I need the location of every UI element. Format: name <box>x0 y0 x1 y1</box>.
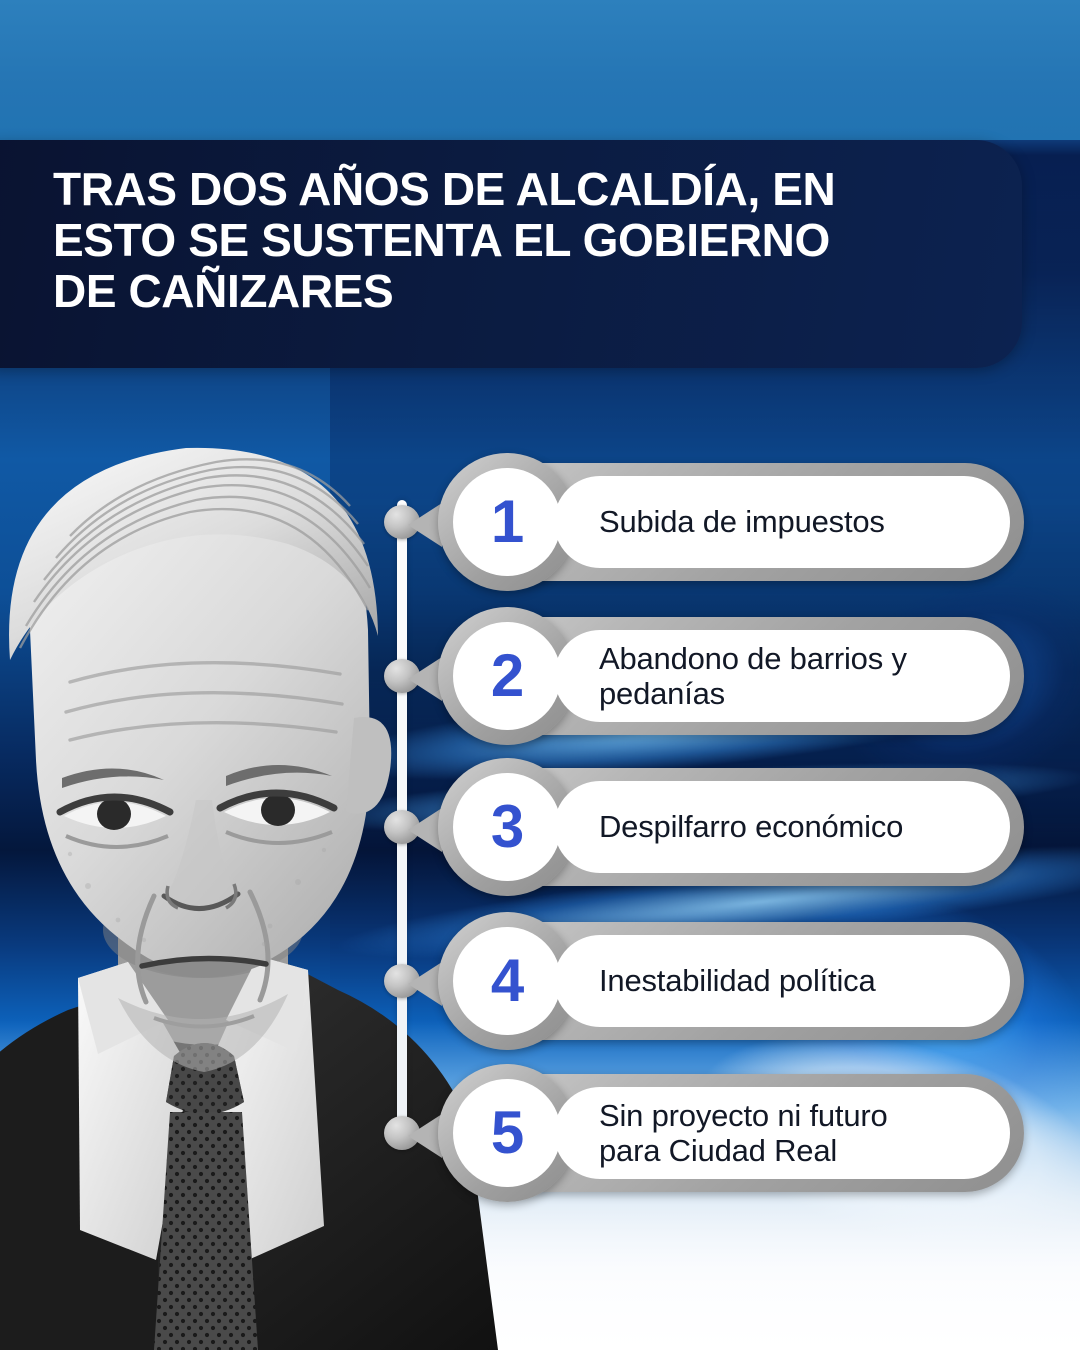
list-item-label: Subida de impuestos <box>554 504 909 539</box>
list-item-number: 2 <box>491 646 523 706</box>
list-item-label: Inestabilidad política <box>554 963 900 998</box>
item-pointer-icon <box>408 503 442 547</box>
list-item[interactable]: Subida de impuestos 1 <box>448 463 1024 581</box>
item-number-circle: 1 <box>453 468 561 576</box>
item-number-circle: 3 <box>453 773 561 881</box>
item-number-circle: 5 <box>453 1079 561 1187</box>
list-item-label: Abandono de barrios y pedanías <box>554 641 931 711</box>
item-number-circle: 2 <box>453 622 561 730</box>
list-item[interactable]: Abandono de barrios y pedanías 2 <box>448 617 1024 735</box>
list-item-number: 3 <box>491 797 523 857</box>
list-item-number: 4 <box>491 951 523 1011</box>
item-text-pill: Sin proyecto ni futuro para Ciudad Real <box>554 1087 1010 1179</box>
list-item[interactable]: Inestabilidad política 4 <box>448 922 1024 1040</box>
item-text-pill: Despilfarro económico <box>554 781 1010 873</box>
item-text-pill: Subida de impuestos <box>554 476 1010 568</box>
list-item-number: 1 <box>491 492 523 552</box>
list-item[interactable]: Sin proyecto ni futuro para Ciudad Real … <box>448 1074 1024 1192</box>
item-pointer-icon <box>408 962 442 1006</box>
item-pointer-icon <box>408 657 442 701</box>
item-number-circle: 4 <box>453 927 561 1035</box>
headline-banner: TRAS DOS AÑOS DE ALCALDÍA, EN ESTO SE SU… <box>0 140 1022 368</box>
item-text-pill: Abandono de barrios y pedanías <box>554 630 1010 722</box>
page-title: TRAS DOS AÑOS DE ALCALDÍA, EN ESTO SE SU… <box>53 164 973 317</box>
item-text-pill: Inestabilidad política <box>554 935 1010 1027</box>
list-item-number: 5 <box>491 1103 523 1163</box>
infographic-poster: Subida de impuestos 1 Abandono de barrio… <box>0 0 1080 1350</box>
list-item-label: Sin proyecto ni futuro para Ciudad Real <box>554 1098 912 1168</box>
item-pointer-icon <box>408 808 442 852</box>
item-pointer-icon <box>408 1114 442 1158</box>
list-item-label: Despilfarro económico <box>554 809 927 844</box>
list-item[interactable]: Despilfarro económico 3 <box>448 768 1024 886</box>
background-sky-band <box>0 0 1080 140</box>
